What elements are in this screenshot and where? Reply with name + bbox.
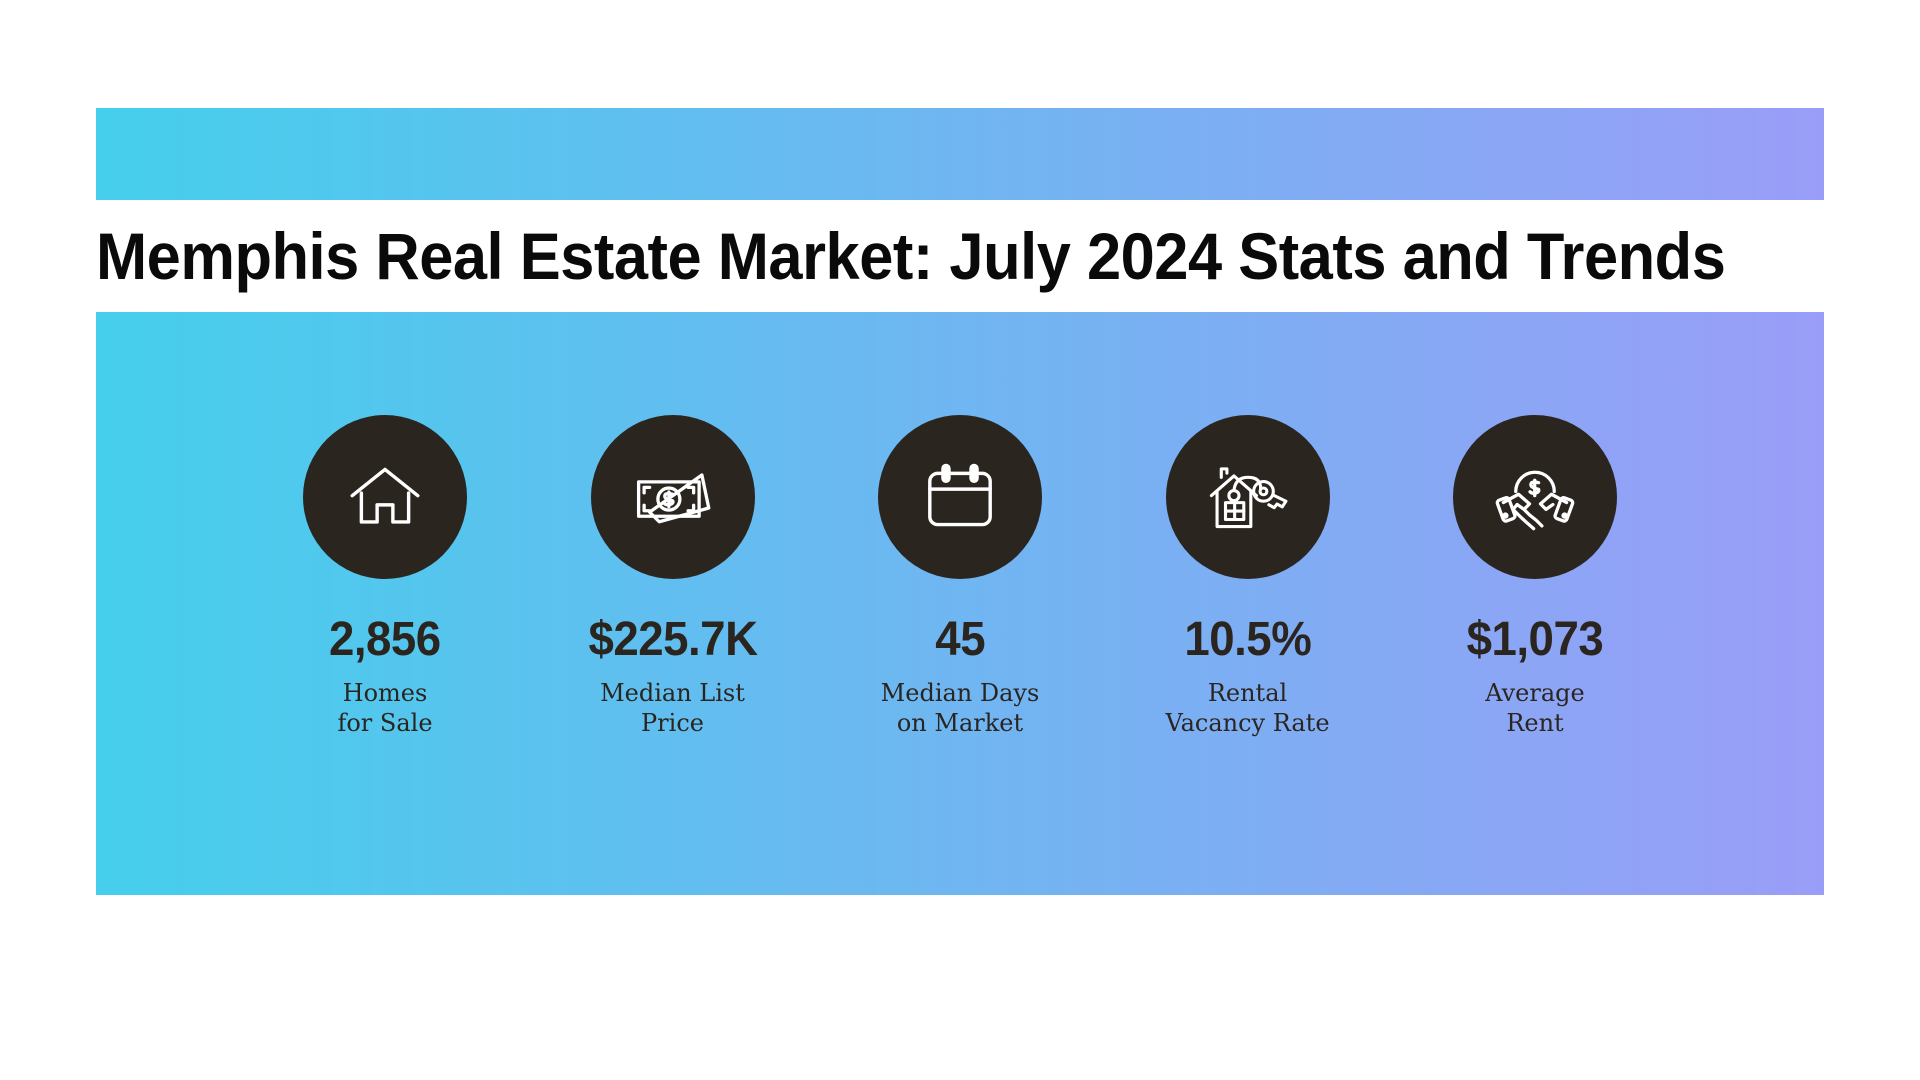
- stat-average-rent: $1,073 Average Rent: [1410, 415, 1660, 739]
- stat-icon-badge: [591, 415, 755, 579]
- cash-banknotes-icon: [629, 453, 717, 541]
- stat-label: Average Rent: [1485, 678, 1584, 739]
- stat-value: 2,856: [329, 616, 441, 664]
- stat-value: $1,073: [1467, 616, 1604, 664]
- stat-label: Median List Price: [600, 678, 745, 739]
- top-gradient-band: [96, 108, 1824, 200]
- stat-value: $225.7K: [588, 616, 757, 664]
- stats-row: 2,856 Homes for Sale: [260, 415, 1660, 739]
- stat-value: 45: [935, 616, 985, 664]
- calendar-icon: [918, 455, 1002, 539]
- handshake-dollar-icon: [1491, 453, 1579, 541]
- stat-label: Median Days on Market: [881, 678, 1040, 739]
- stat-label: Rental Vacancy Rate: [1165, 678, 1329, 739]
- stat-median-days-on-market: 45 Median Days on Market: [835, 415, 1085, 739]
- stat-median-list-price: $225.7K Median List Price: [548, 415, 798, 739]
- stat-label: Homes for Sale: [337, 678, 432, 739]
- infographic-card: Memphis Real Estate Market: July 2024 St…: [0, 0, 1920, 1080]
- stat-icon-badge: [1166, 415, 1330, 579]
- page-title-text: Memphis Real Estate Market: July 2024 St…: [96, 223, 1725, 289]
- stat-rental-vacancy-rate: 10.5% Rental Vacancy Rate: [1123, 415, 1373, 739]
- stat-icon-badge: [1453, 415, 1617, 579]
- stat-icon-badge: [878, 415, 1042, 579]
- house-keys-icon: [1203, 452, 1293, 542]
- stat-value: 10.5%: [1184, 616, 1311, 664]
- home-icon: [343, 455, 427, 539]
- page-title: Memphis Real Estate Market: July 2024 St…: [96, 203, 1824, 308]
- stat-homes-for-sale: 2,856 Homes for Sale: [260, 415, 510, 739]
- stat-icon-badge: [303, 415, 467, 579]
